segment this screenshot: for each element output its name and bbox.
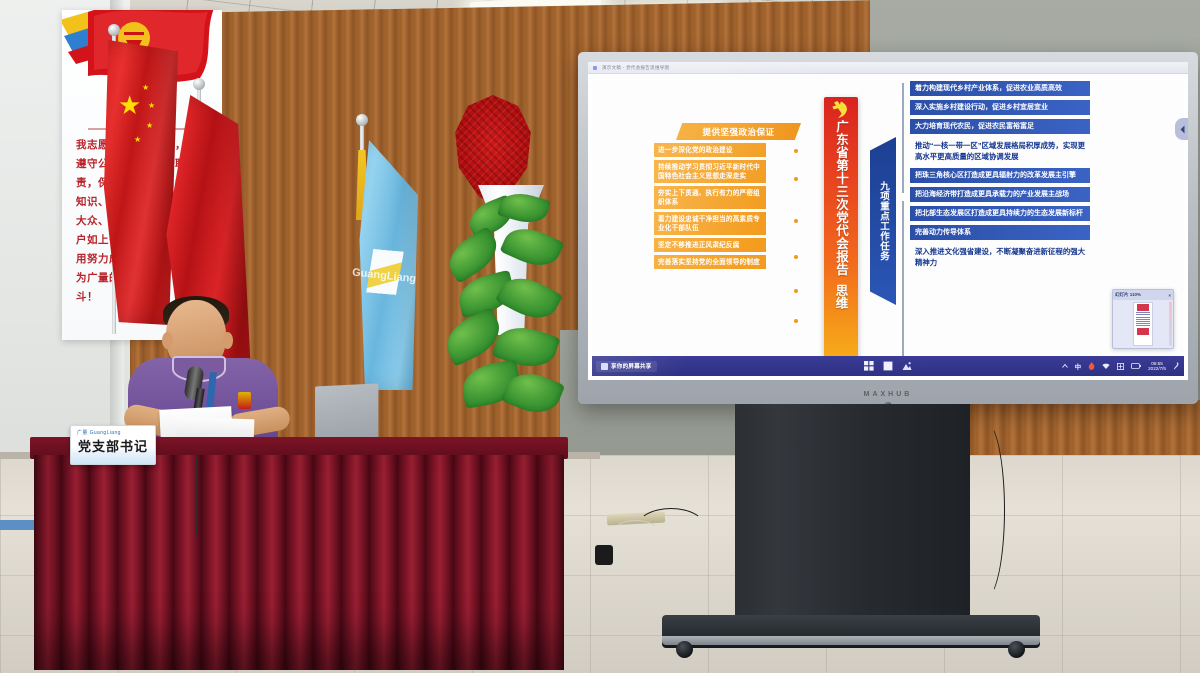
right-branch-item[interactable]: 把珠三角核心区打造成更具辐射力的改革发展主引擎 (910, 168, 1090, 183)
left-branch-item[interactable]: 夯实上下贯通、执行有力的严密组织体系 (654, 186, 766, 209)
slide-title-sub: 思维 (832, 284, 851, 309)
branch-node (794, 219, 798, 223)
flag-star: ★ (134, 136, 141, 144)
right-branch-spine-top (902, 83, 904, 193)
chevron-up-icon[interactable] (1062, 363, 1068, 369)
china-national-flag: ★ ★ ★ ★ ★ (104, 40, 178, 325)
conference-table-skirt (34, 455, 564, 670)
square-window-icon[interactable] (883, 361, 893, 371)
battery-icon[interactable] (1131, 363, 1141, 369)
left-branch-item[interactable]: 坚定不移推进正风肃纪反腐 (654, 238, 766, 252)
party-badge-pin (238, 392, 251, 409)
app-icon (593, 66, 597, 70)
hammer-sickle-emblem-icon (831, 100, 851, 118)
stand-caster (1008, 641, 1025, 658)
slide-thumbnail-panel[interactable]: 幻灯片 110% × (1112, 289, 1174, 349)
corporate-flagpole-finial (356, 114, 368, 126)
branch-node (794, 319, 798, 323)
ime-status-icon[interactable] (1117, 363, 1124, 370)
display-stand-base-trim (662, 636, 1040, 645)
desk-nameplate: 广量 GuangLiang 党支部书记 (70, 425, 156, 465)
floor-cable-light (612, 520, 660, 546)
thumbnail-accent (1137, 328, 1149, 335)
left-branch-item[interactable]: 着力建设忠诚干净担当的高素质专业化干部队伍 (654, 212, 766, 235)
thumbnail-line (1136, 314, 1150, 315)
party-flagpole-finial (193, 78, 205, 90)
display-brand-label: MAXHUB (578, 391, 1198, 398)
gallery-icon[interactable] (902, 361, 912, 371)
thumbnail-line (1136, 319, 1150, 320)
slide-center-title[interactable]: 广东省第十三次党代会报告 思维 (824, 97, 858, 356)
display-screen[interactable]: 演示文稿 - 党代会报告思维导图 提供坚强政治保证 进一步深化党的政治建设 持续… (588, 62, 1188, 380)
side-panel-toggle[interactable] (1175, 118, 1188, 140)
right-branch-item[interactable]: 完善动力传导体系 (910, 225, 1090, 240)
taskbar-center-icons (864, 361, 912, 371)
ear (162, 332, 173, 349)
power-adapter (595, 545, 613, 565)
right-branch-highlight[interactable]: 推动“一核一带一区”区域发展格局积厚成势，实现更高水平更高质量的区域协调发展 (910, 138, 1092, 164)
branch-node (794, 149, 798, 153)
display-cable (965, 420, 1005, 600)
nameplate-logo: 广量 GuangLiang (77, 429, 121, 436)
laptop-screen (315, 383, 378, 444)
meeting-room-scene: 广量集团 广量誓词 我志愿加入广量大家， 遵守公司章程，履行职 责，保守公司秘密… (0, 0, 1200, 673)
branch-node (794, 289, 798, 293)
ear (222, 332, 233, 349)
right-branch-item[interactable]: 把沿海经济带打造成更具承载力的产业发展主战场 (910, 187, 1090, 202)
thumbnail-accent (1137, 304, 1149, 311)
branch-node (794, 177, 798, 181)
right-branch-tab[interactable]: 九项重点工作任务 (870, 137, 896, 305)
right-branch-footer[interactable]: 深入推进文化强省建设，不断凝聚奋进新征程的强大精神力 (910, 244, 1092, 270)
presentation-app-header: 演示文稿 - 党代会报告思维导图 (588, 62, 1188, 74)
thumbnail-panel-body (1113, 300, 1173, 350)
flag-star: ★ (118, 92, 141, 118)
plant-leaf (500, 220, 565, 274)
flag-star: ★ (146, 122, 153, 130)
taskbar-left-label: 享你的屏幕共享 (611, 362, 652, 370)
right-branch-tab-label: 九项重点工作任务 (876, 181, 890, 261)
left-branch-header[interactable]: 提供坚强政治保证 (676, 123, 801, 140)
right-branch-item[interactable]: 把北部生态发展区打造成更具持续力的生态发展新标杆 (910, 206, 1090, 221)
right-branch-item[interactable]: 大力培育现代农民，促进农民富裕富足 (910, 119, 1090, 134)
right-branch-item[interactable]: 深入实施乡村建设行动，促进乡村宜居宜业 (910, 100, 1090, 115)
flag-star: ★ (148, 102, 155, 110)
maxhub-interactive-display: 演示文稿 - 党代会报告思维导图 提供坚强政治保证 进一步深化党的政治建设 持续… (578, 52, 1198, 404)
fire-icon[interactable] (1088, 362, 1095, 370)
windows-grid-icon[interactable] (864, 361, 874, 371)
clock-date: 2022/7/5 (1148, 366, 1166, 371)
taskbar-clock[interactable]: 05:55 2022/7/5 (1148, 361, 1166, 372)
left-branch-item[interactable]: 进一步深化党的政治建设 (654, 143, 766, 157)
thumbnail-line (1136, 325, 1150, 326)
slide-title-main: 广东省第十三次党代会报告 (834, 120, 848, 276)
app-tab-label[interactable]: 演示文稿 - 党代会报告思维导图 (602, 65, 669, 71)
thumbnail-line (1136, 317, 1150, 318)
left-branch-group: 提供坚强政治保证 进一步深化党的政治建设 持续推动学习贯彻习近平新时代中国特色社… (654, 123, 832, 269)
flagpole-finial (108, 24, 120, 36)
taskbar-screen-share-button[interactable]: 享你的屏幕共享 (596, 361, 657, 372)
thumbnail-panel-title: 幻灯片 110% (1115, 292, 1141, 298)
wifi-icon[interactable] (1102, 363, 1110, 370)
stand-caster (676, 641, 693, 658)
os-taskbar[interactable]: 享你的屏幕共享 (592, 356, 1184, 376)
thumbnail-scrollbar[interactable] (1169, 302, 1172, 346)
pen-icon[interactable] (1173, 362, 1179, 370)
left-branch-item[interactable]: 持续推动学习贯彻习近平新时代中国特色社会主义思想走深走实 (654, 160, 766, 183)
chevron-left-icon (1179, 125, 1186, 134)
ime-chinese-icon[interactable]: 中 (1075, 361, 1082, 371)
display-stand-column (735, 404, 970, 624)
taskbar-system-tray: 中 05:55 (1062, 361, 1179, 372)
thumbnail-line (1136, 323, 1150, 324)
right-branch-item[interactable]: 着力构建现代乡村产业体系，促进农业高质高效 (910, 81, 1090, 96)
right-branch-group: 着力构建现代乡村产业体系，促进农业高质高效 深入实施乡村建设行动，促进乡村宜居宜… (910, 81, 1110, 274)
branch-node (794, 255, 798, 259)
thumbnail-panel-header: 幻灯片 110% × (1113, 290, 1173, 300)
flag-star: ★ (142, 84, 149, 92)
thumbnail-line (1136, 321, 1150, 322)
slide-canvas[interactable]: 提供坚强政治保证 进一步深化党的政治建设 持续推动学习贯彻习近平新时代中国特色社… (592, 75, 1184, 356)
left-branch-item[interactable]: 完善落实坚持党的全面领导的制度 (654, 255, 766, 269)
thumbnail-document[interactable] (1133, 302, 1153, 346)
close-icon[interactable]: × (1168, 293, 1171, 298)
thumbnail-line (1136, 312, 1150, 313)
right-branch-spine-mid (902, 201, 904, 356)
screen-share-icon (601, 363, 608, 370)
potted-plant (438, 188, 568, 420)
microphone-cable (196, 456, 198, 536)
nameplate-title: 党支部书记 (78, 436, 148, 455)
